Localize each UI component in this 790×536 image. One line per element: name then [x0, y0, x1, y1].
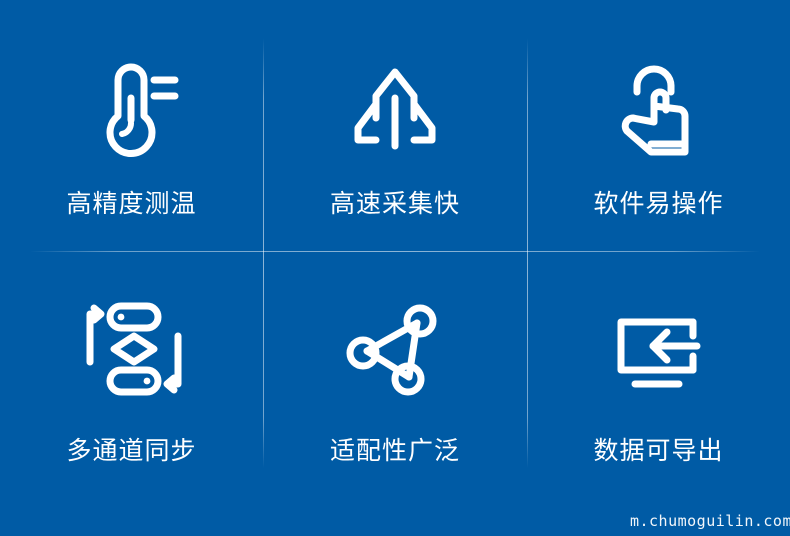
feature-cell-thermometer[interactable]: 高精度测温 — [0, 0, 263, 251]
thermometer-icon — [84, 48, 180, 168]
vertical-divider-right — [527, 38, 528, 468]
hand-tap-icon — [611, 48, 707, 168]
multi-channel-sync-icon — [80, 289, 184, 409]
feature-label: 适配性广泛 — [330, 439, 460, 464]
feature-cell-export[interactable]: 数据可导出 — [527, 251, 790, 505]
vertical-divider-left — [263, 38, 264, 468]
feature-cell-rocket[interactable]: 高速采集快 — [263, 0, 527, 251]
feature-poster: 高精度测温 高速采集快 — [0, 0, 790, 536]
horizontal-divider — [30, 251, 760, 252]
feature-label: 软件易操作 — [593, 192, 723, 217]
feature-cell-network[interactable]: 适配性广泛 — [263, 251, 527, 505]
watermark-url: m.chumoguilin.com — [630, 512, 790, 530]
rocket-up-arrow-icon — [346, 48, 444, 168]
feature-label: 多通道同步 — [66, 439, 196, 464]
export-screen-icon — [609, 289, 709, 409]
feature-label: 数据可导出 — [593, 439, 723, 464]
network-nodes-icon — [345, 289, 445, 409]
feature-grid: 高精度测温 高速采集快 — [0, 0, 790, 505]
feature-cell-sync[interactable]: 多通道同步 — [0, 251, 263, 505]
feature-cell-hand-tap[interactable]: 软件易操作 — [527, 0, 790, 251]
feature-label: 高速采集快 — [330, 192, 460, 217]
feature-label: 高精度测温 — [66, 192, 196, 217]
